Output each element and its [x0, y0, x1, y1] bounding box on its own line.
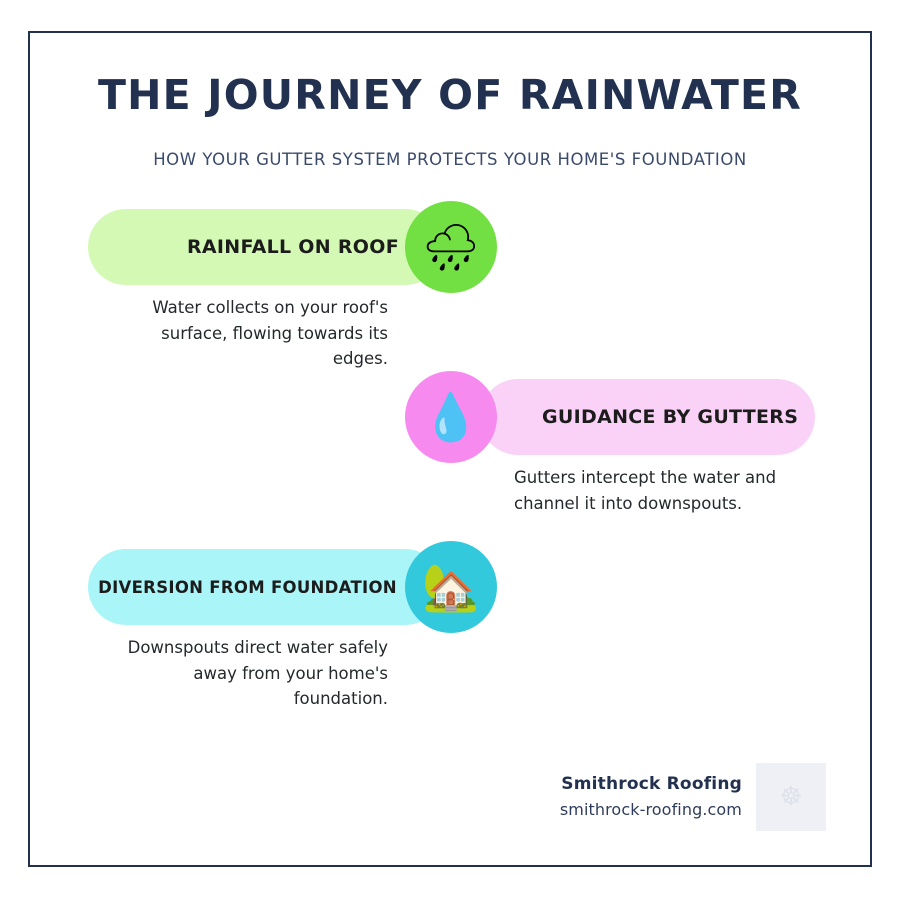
step-icon-circle-diversion-from-foundation: 🏡: [405, 541, 497, 633]
step-icon-circle-rainfall-on-roof: 🌧: [405, 201, 497, 293]
step-item-rainfall-on-roof: RAINFALL ON ROOF 🌧 Water collects on you…: [30, 201, 870, 371]
step-description: Downspouts direct water safely away from…: [118, 635, 388, 712]
step-row: DIVERSION FROM FOUNDATION 🏡: [30, 541, 870, 633]
logo-placeholder: ☸: [756, 763, 826, 831]
brand-website[interactable]: smithrock-roofing.com: [560, 798, 742, 822]
step-description: Water collects on your roof's surface, f…: [118, 295, 388, 372]
step-label: GUIDANCE BY GUTTERS: [542, 406, 798, 428]
step-row: RAINFALL ON ROOF 🌧: [30, 201, 870, 293]
logo-placeholder-icon: ☸: [779, 784, 802, 810]
cloud-with-rain-icon: 🌧: [422, 224, 480, 270]
step-pill-guidance-by-gutters[interactable]: GUIDANCE BY GUTTERS: [480, 379, 815, 455]
step-row: GUIDANCE BY GUTTERS 💧: [30, 371, 870, 463]
footer-branding: Smithrock Roofing smithrock-roofing.com …: [560, 763, 826, 831]
step-label: DIVERSION FROM FOUNDATION: [98, 578, 397, 597]
step-item-diversion-from-foundation: DIVERSION FROM FOUNDATION 🏡 Downspouts d…: [30, 541, 870, 711]
header: THE JOURNEY OF RAINWATER HOW YOUR GUTTER…: [30, 33, 870, 169]
step-description: Gutters intercept the water and channel …: [514, 465, 784, 516]
step-item-guidance-by-gutters: GUIDANCE BY GUTTERS 💧 Gutters intercept …: [30, 371, 870, 541]
step-label: RAINFALL ON ROOF: [187, 236, 399, 258]
infographic-frame: THE JOURNEY OF RAINWATER HOW YOUR GUTTER…: [28, 31, 872, 867]
house-with-garden-icon: 🏡: [422, 564, 479, 610]
page-title: THE JOURNEY OF RAINWATER: [30, 74, 870, 117]
brand-name: Smithrock Roofing: [560, 772, 742, 798]
steps-list: RAINFALL ON ROOF 🌧 Water collects on you…: [30, 201, 870, 711]
step-pill-rainfall-on-roof[interactable]: RAINFALL ON ROOF: [88, 209, 443, 285]
page-subtitle: HOW YOUR GUTTER SYSTEM PROTECTS YOUR HOM…: [30, 117, 870, 169]
step-pill-diversion-from-foundation[interactable]: DIVERSION FROM FOUNDATION: [88, 549, 443, 625]
step-icon-circle-guidance-by-gutters: 💧: [405, 371, 497, 463]
footer-text: Smithrock Roofing smithrock-roofing.com: [560, 772, 742, 822]
water-droplet-icon: 💧: [422, 394, 479, 440]
